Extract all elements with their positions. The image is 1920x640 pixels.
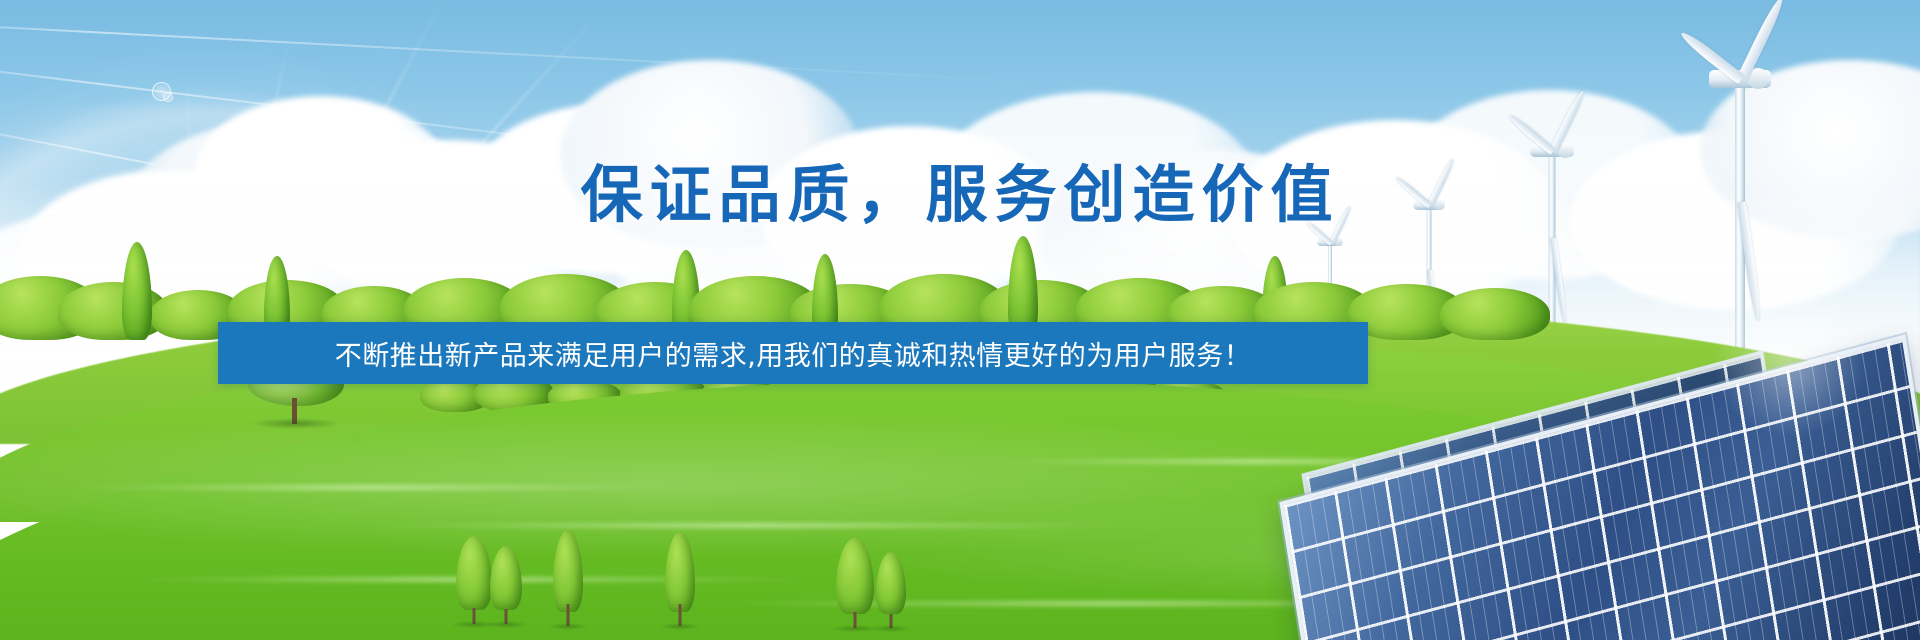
page-title: 保证品质，服务创造价值: [0, 162, 1920, 227]
subtitle-text: 不断推出新产品来满足用户的需求,用我们的真诚和热情更好的为用户服务！: [335, 334, 1252, 373]
promo-banner: 保证品质，服务创造价值 不断推出新产品来满足用户的需求,用我们的真诚和热情更好的…: [0, 0, 1920, 640]
subtitle-banner: 不断推出新产品来满足用户的需求,用我们的真诚和热情更好的为用户服务！: [218, 322, 1368, 384]
lens-flare-dot: [163, 92, 173, 102]
